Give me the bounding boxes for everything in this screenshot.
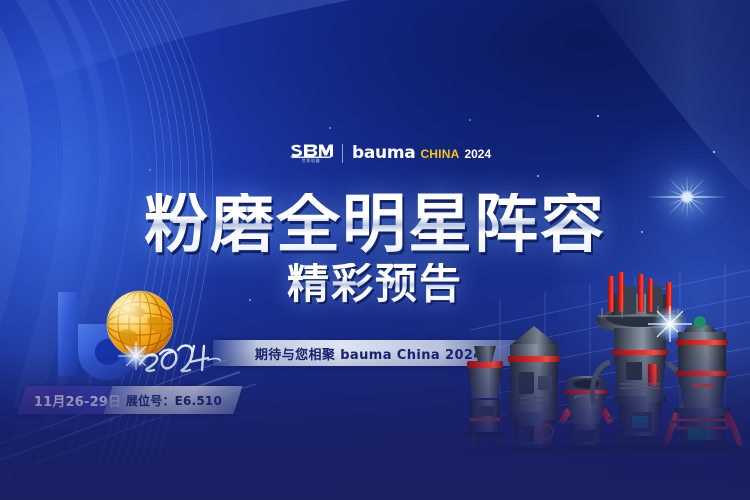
raymond-mill <box>508 326 560 454</box>
brand-logo-row: 世邦机器 bauma CHINA 2024 <box>289 140 491 166</box>
bauma-logo: bauma CHINA 2024 <box>352 145 491 162</box>
sbm-chinese-subtitle: 世邦机器 <box>302 159 320 163</box>
invitation-ribbon-text: 期待与您相聚 bauma China 2024! <box>255 344 489 363</box>
logo-divider <box>342 144 343 163</box>
headline-line-1: 粉磨全明星阵容 <box>0 193 750 257</box>
banner-root: 世邦机器 bauma CHINA 2024 粉磨全明星阵容 精彩预告 期待与您相… <box>0 0 750 500</box>
bauma-wordmark: bauma <box>352 145 415 162</box>
bauma-b-globe-mark <box>44 288 224 384</box>
sbm-logo-icon: 世邦机器 <box>289 143 333 163</box>
bauma-year-label: 2024 <box>464 148 491 160</box>
industrial-grinding-mill-lineup <box>462 272 750 454</box>
booth-badge-text: 展位号：E6.510 <box>126 392 222 409</box>
bauma-china-label: CHINA <box>420 148 459 160</box>
booth-badge: 展位号：E6.510 <box>103 386 242 414</box>
ultrafine-mill <box>558 376 614 454</box>
vertical-roller-mill <box>466 346 504 454</box>
